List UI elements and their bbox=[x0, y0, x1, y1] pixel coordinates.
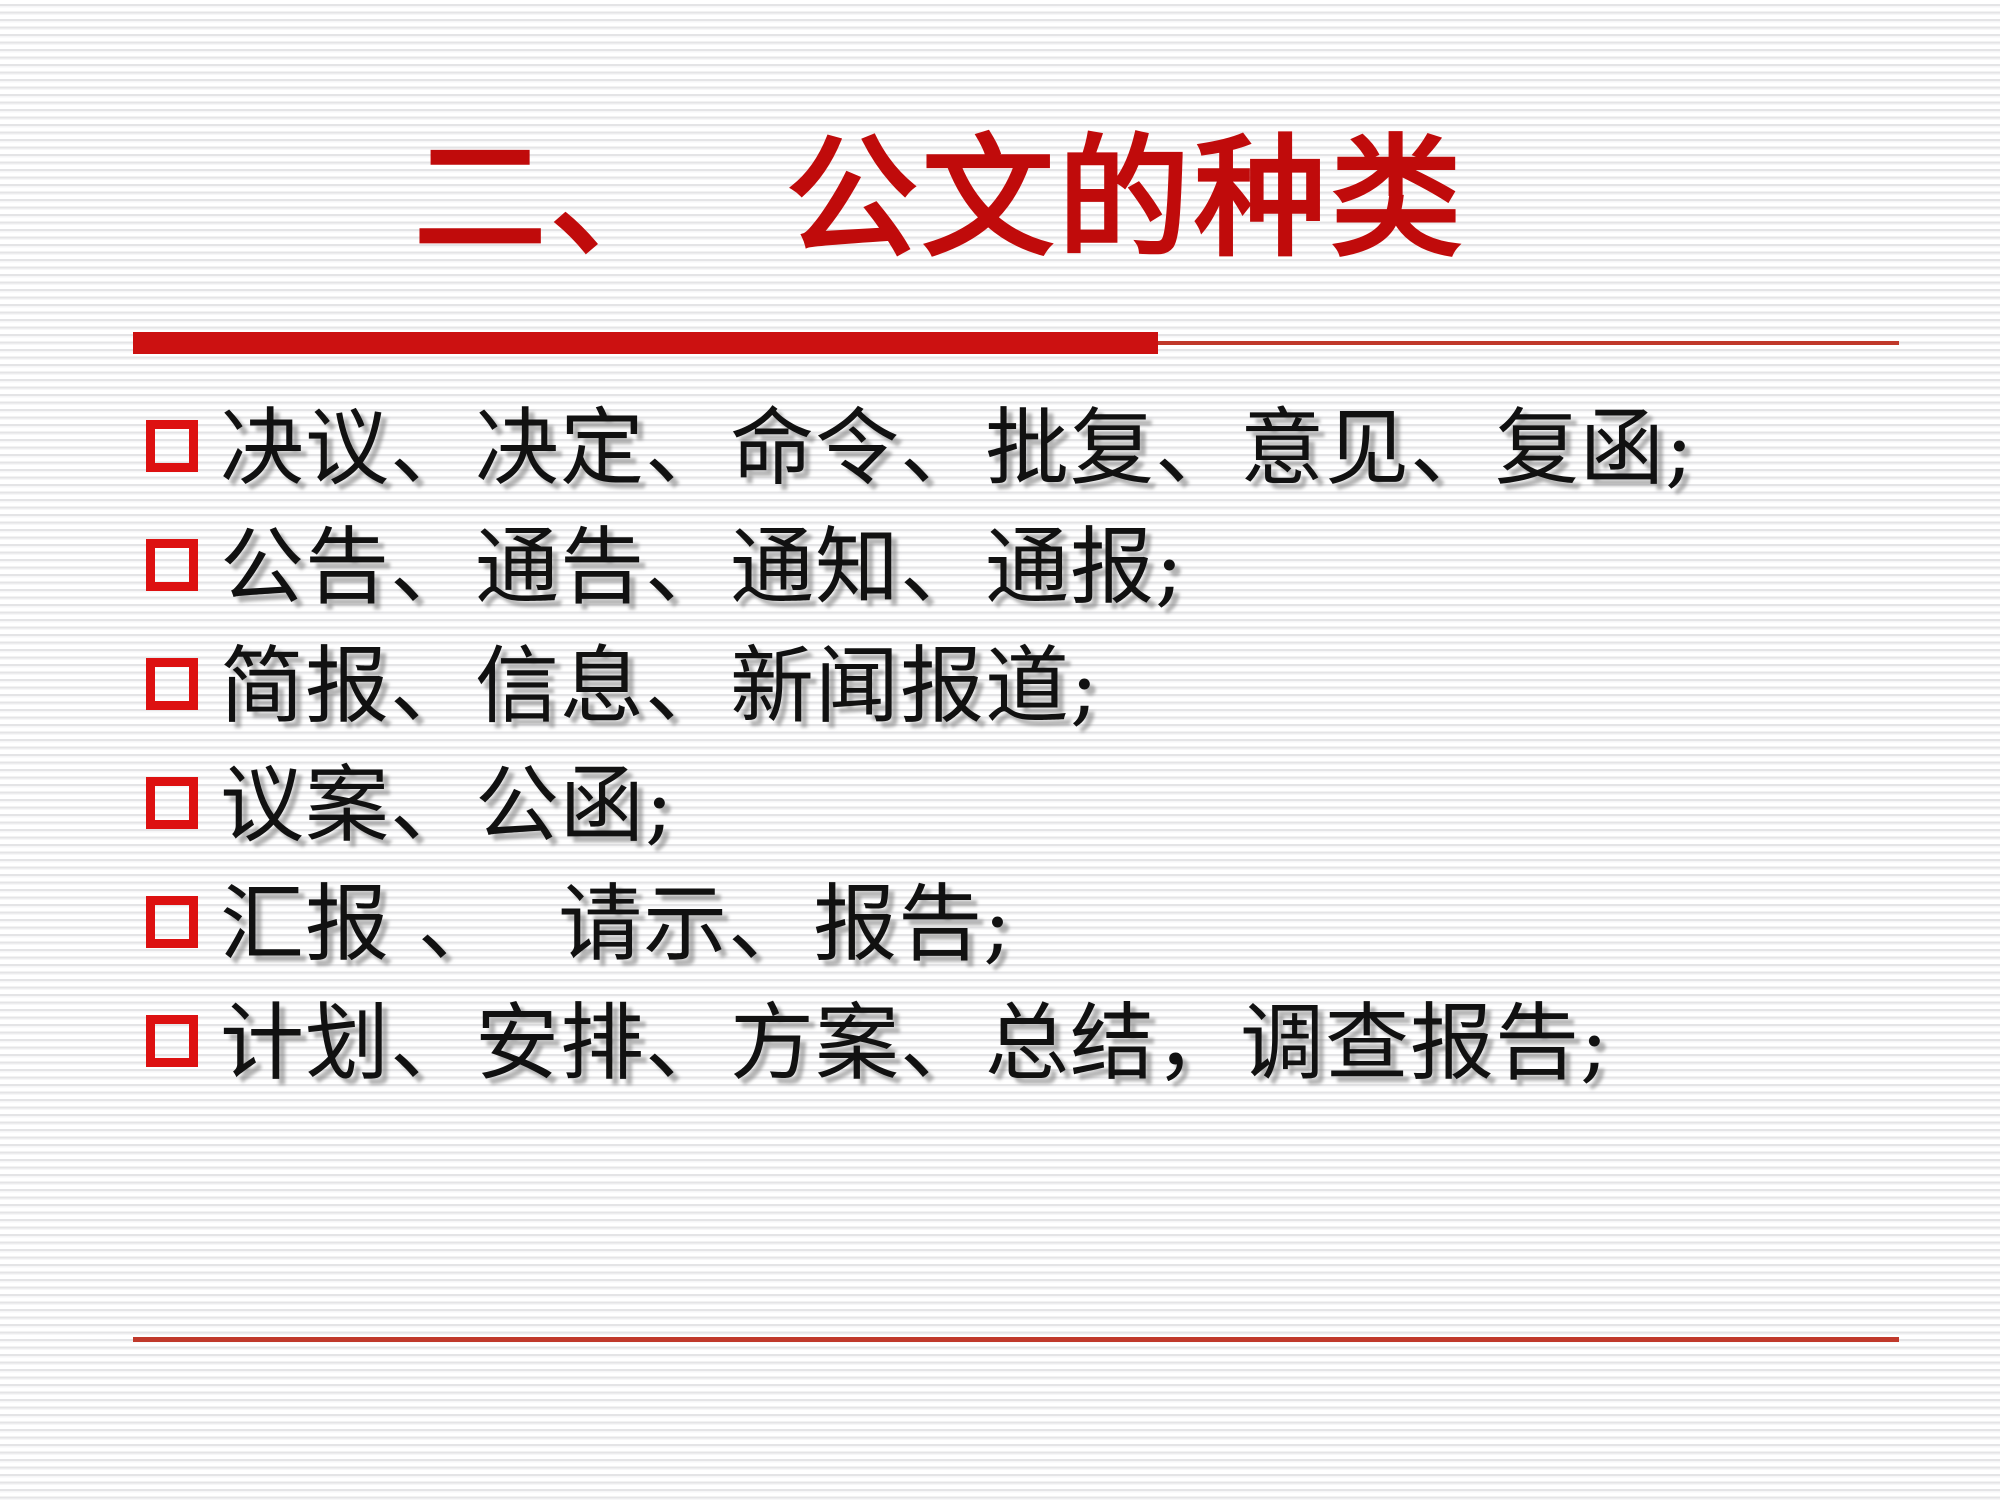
list-item-label: 决议、决定、命令、批复、意见、复函; bbox=[220, 396, 1966, 501]
hollow-square-bullet-icon bbox=[146, 896, 198, 948]
hollow-square-bullet-icon bbox=[146, 1015, 198, 1067]
presentation-slide: 二、 公文的种类 决议、决定、命令、批复、意见、复函; 公告、通告、通知、通报;… bbox=[0, 0, 2000, 1500]
footer-divider-rule bbox=[133, 1337, 1899, 1342]
title-divider-thick-bar bbox=[133, 332, 1158, 354]
hollow-square-bullet-icon bbox=[146, 420, 198, 472]
hollow-square-bullet-icon bbox=[146, 539, 198, 591]
list-item: 议案、公函; bbox=[146, 753, 1966, 872]
list-item: 汇报 、 请示、报告; bbox=[146, 872, 1966, 991]
hollow-square-bullet-icon bbox=[146, 658, 198, 710]
bullet-list: 决议、决定、命令、批复、意见、复函; 公告、通告、通知、通报; 简报、信息、新闻… bbox=[146, 396, 1966, 1110]
list-item: 计划、安排、方案、总结，调查报告; bbox=[146, 991, 1966, 1110]
list-item-label: 简报、信息、新闻报道; bbox=[220, 634, 1966, 739]
hollow-square-bullet-icon bbox=[146, 777, 198, 829]
list-item: 简报、信息、新闻报道; bbox=[146, 634, 1966, 753]
list-item: 决议、决定、命令、批复、意见、复函; bbox=[146, 396, 1966, 515]
page-title: 二、 公文的种类 bbox=[414, 120, 1466, 278]
title-block: 二、 公文的种类 bbox=[0, 120, 2000, 278]
list-item-label: 公告、通告、通知、通报; bbox=[220, 515, 1966, 620]
list-item-label: 计划、安排、方案、总结，调查报告; bbox=[220, 991, 1966, 1096]
list-item-label: 汇报 、 请示、报告; bbox=[220, 872, 1966, 977]
list-item: 公告、通告、通知、通报; bbox=[146, 515, 1966, 634]
list-item-label: 议案、公函; bbox=[220, 753, 1966, 858]
